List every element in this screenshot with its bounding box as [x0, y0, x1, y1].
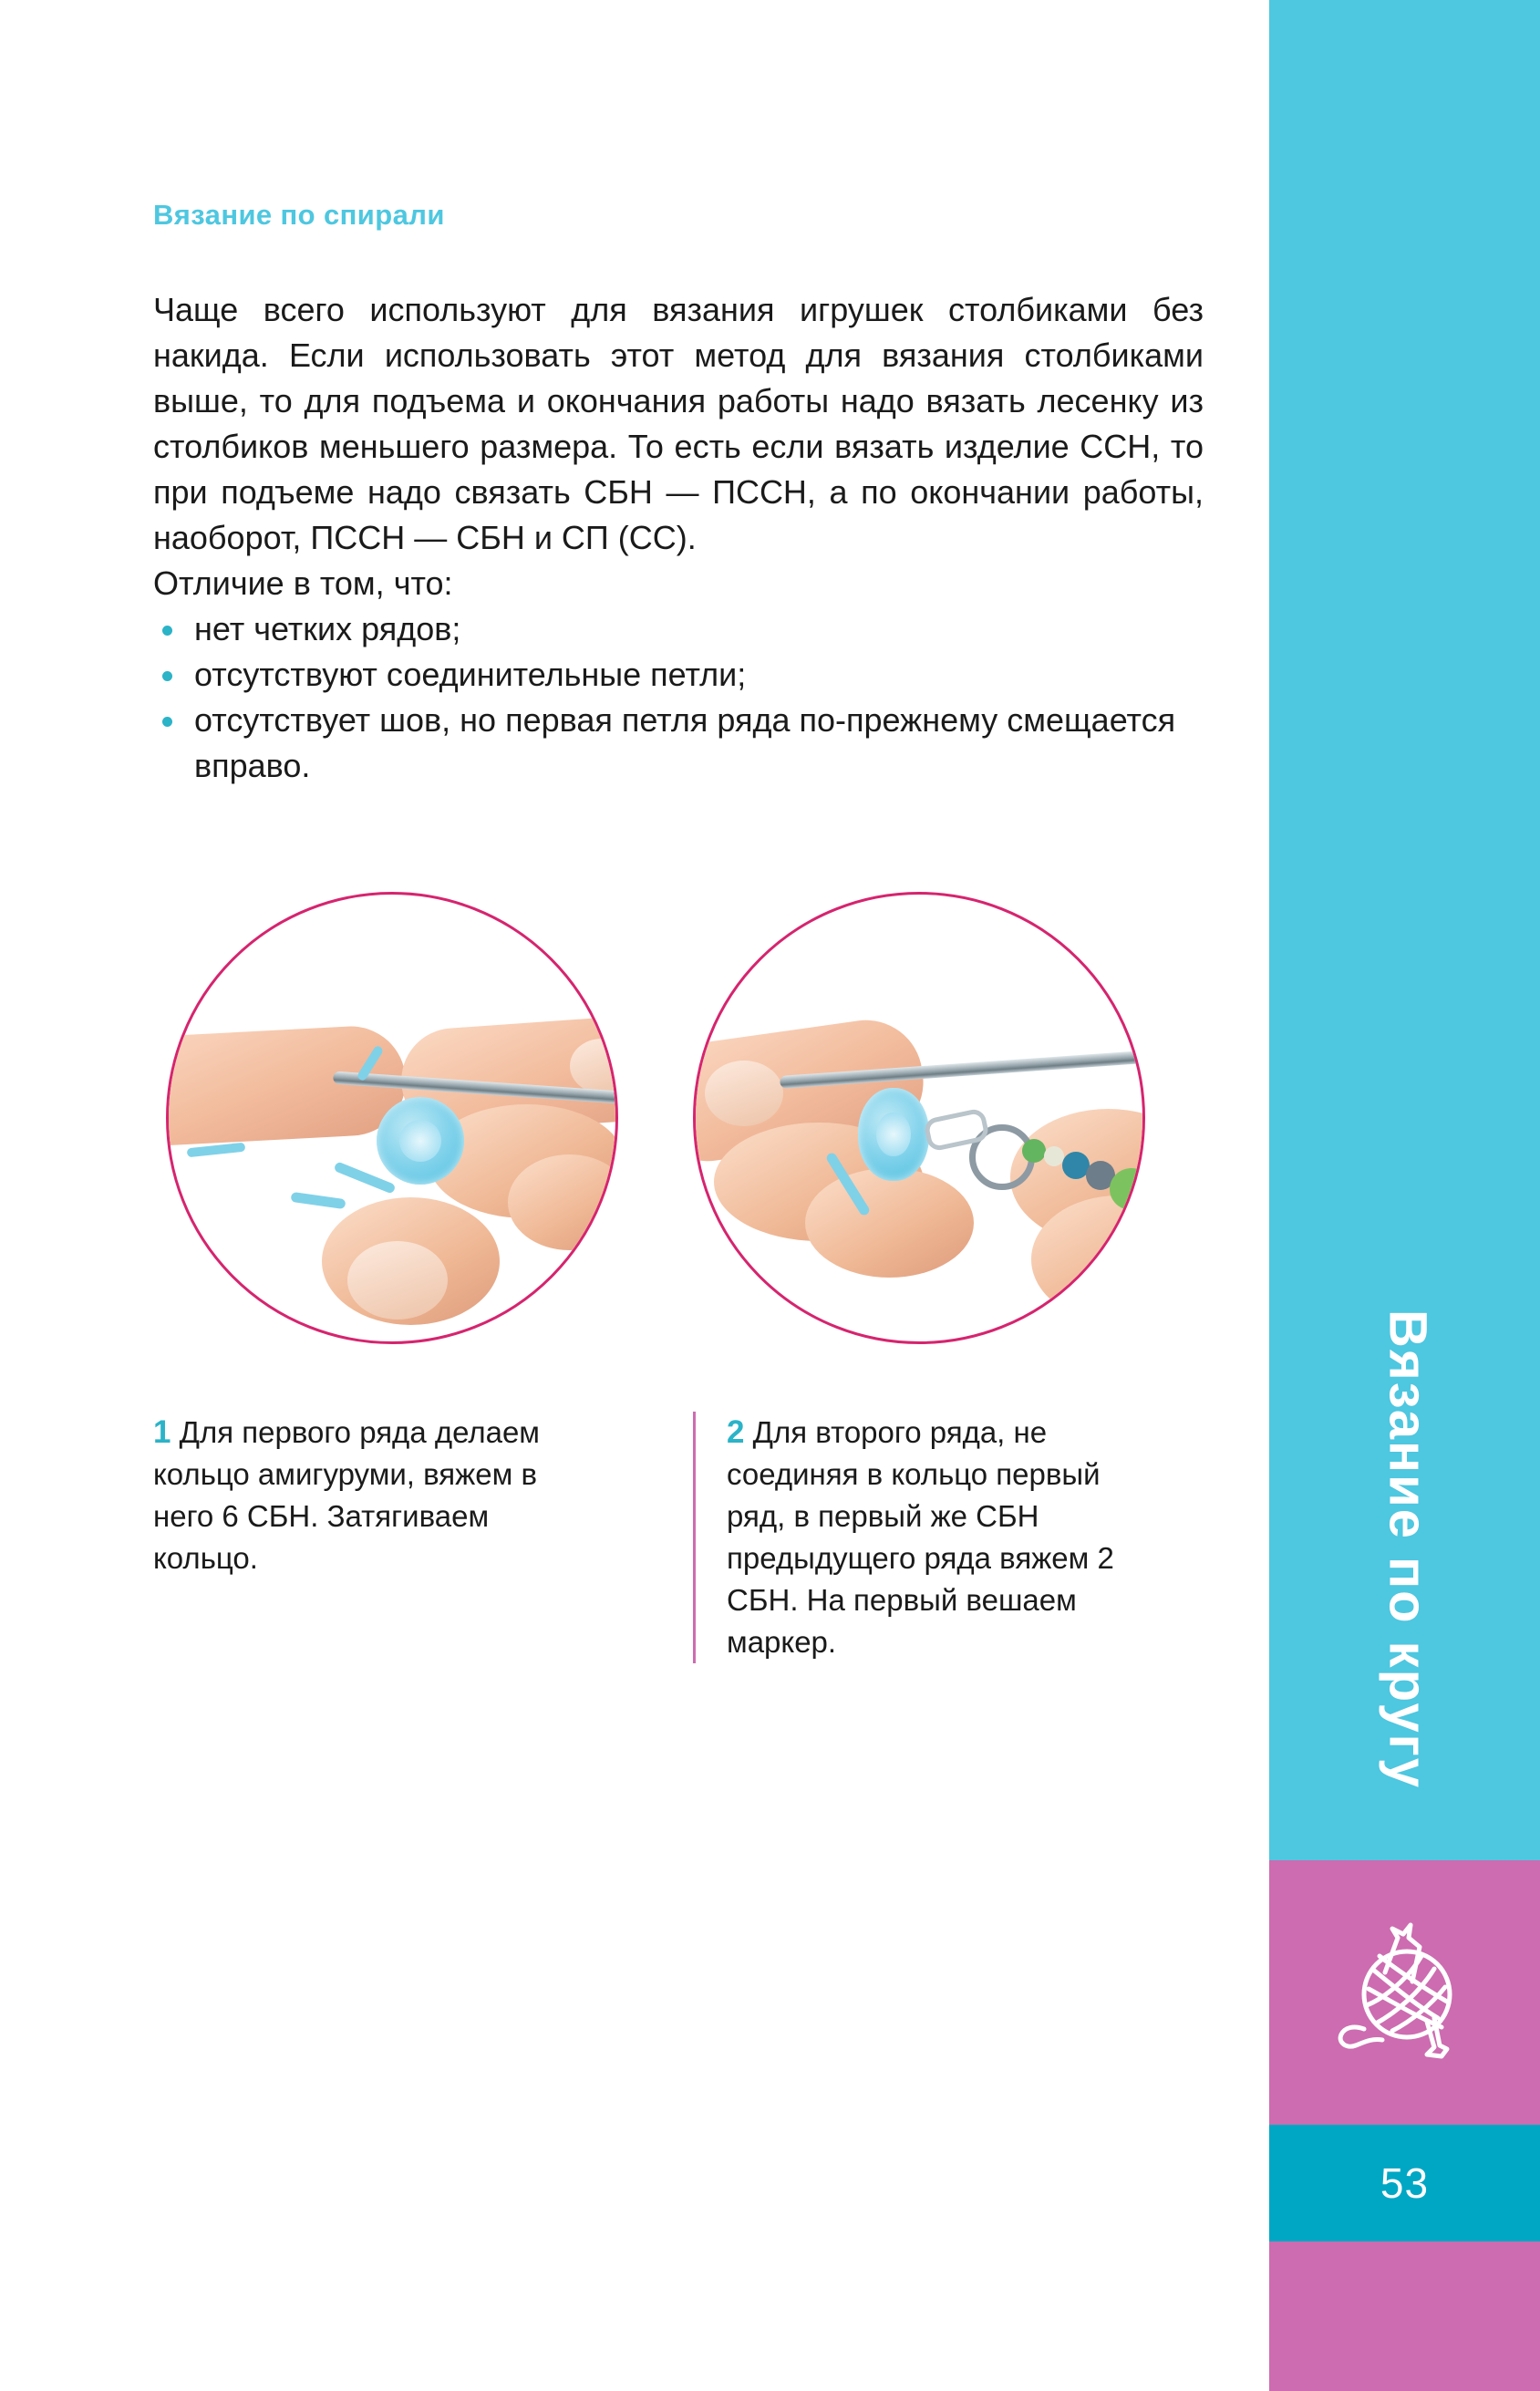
finger-shape [805, 1168, 974, 1278]
list-item-label: отсутствуют соединительные петли; [194, 656, 746, 693]
yarn-ball-with-hook-icon [1269, 1860, 1540, 2125]
bullet-dot-icon [162, 717, 172, 727]
page-content: Вязание по спирали Чаще всего используют… [0, 0, 1269, 2391]
page-number-label: 53 [1380, 2158, 1429, 2208]
difference-lead: Отличие в том, что: [153, 561, 1204, 606]
step-number: 2 [727, 1414, 744, 1450]
yarn-tail [187, 1143, 246, 1158]
step-caption-2: 2 Для второго ряда, не соединяя в кольцо… [693, 1412, 1155, 1663]
fingernail [347, 1241, 448, 1320]
rail-teal-band [1269, 0, 1540, 1860]
rail-pink-bottom-band [1269, 2241, 1540, 2391]
list-item-label: отсутствует шов, но первая петля ряда по… [194, 701, 1175, 784]
step-photo-1 [166, 892, 618, 1344]
body-copy: Чаще всего используют для вязания игруше… [153, 287, 1204, 789]
fingernail [705, 1061, 783, 1126]
page-title: Вязание по спирали [153, 199, 445, 232]
step-photo-2 [693, 892, 1145, 1344]
list-item-label: нет четких рядов; [194, 610, 460, 647]
step-number: 1 [153, 1414, 171, 1450]
yarn-tail [291, 1192, 346, 1209]
list-item: отсутствует шов, но первая петля ряда по… [153, 698, 1204, 789]
list-item: отсутствуют соединительные петли; [153, 652, 1204, 698]
intro-paragraph: Чаще всего используют для вязания игруше… [153, 287, 1204, 561]
list-item: нет четких рядов; [153, 606, 1204, 652]
bullet-dot-icon [162, 626, 172, 636]
page-number: 53 [1269, 2125, 1540, 2241]
photo-1-scene [169, 895, 615, 1341]
bullet-dot-icon [162, 671, 172, 681]
step-text: Для второго ряда, не соединяя в кольцо п… [727, 1415, 1114, 1659]
difference-list: нет четких рядов; отсутствуют соединител… [153, 606, 1204, 789]
finger-shape [508, 1154, 618, 1250]
bead [1044, 1146, 1064, 1166]
step-caption-1: 1 Для первого ряда делаем кольцо амигуру… [153, 1412, 582, 1579]
step-text: Для первого ряда делаем кольцо амигуруми… [153, 1415, 540, 1575]
bead [1022, 1139, 1046, 1163]
side-rail: Вязание по кругу 53 [1269, 0, 1540, 2391]
photo-2-scene [696, 895, 1142, 1341]
amigurumi-ring [377, 1097, 464, 1185]
amigurumi-ring [858, 1088, 929, 1181]
